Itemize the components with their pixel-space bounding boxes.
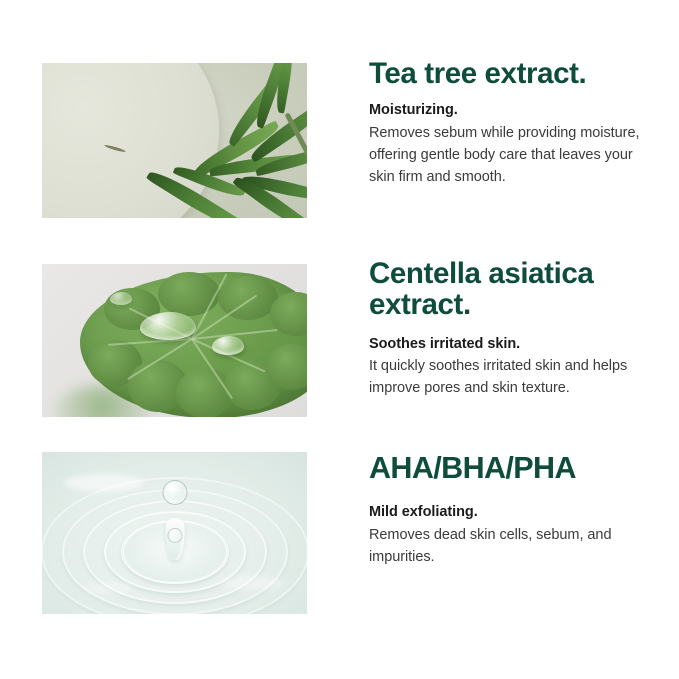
- centella-copy-block: Centella asiatica extract. Soothes irrit…: [369, 258, 661, 399]
- ingredient-benefits-infographic: Tea tree extract. Moisturizing. Removes …: [0, 0, 679, 679]
- page-title-centella: Centella asiatica extract.: [369, 258, 661, 321]
- acids-copy-block: AHA/BHA/PHA Mild exfoliating. Removes de…: [369, 452, 661, 568]
- water-droplet-tiny: [110, 292, 132, 305]
- leaf-lobe: [158, 272, 220, 316]
- falling-water-droplet: [162, 480, 187, 505]
- water-ripple-artwork: [42, 452, 307, 614]
- centella-subhead: Soothes irritated skin.: [369, 334, 661, 356]
- tea-tree-leaves-photo: [42, 63, 307, 218]
- acids-description: Removes dead skin cells, sebum, and impu…: [369, 524, 661, 568]
- tea-tree-description: Removes sebum while providing moisture, …: [369, 122, 661, 188]
- secondary-droplet: [167, 528, 182, 543]
- water-droplet-small: [212, 336, 244, 355]
- tea-tree-subhead: Moisturizing.: [369, 100, 661, 122]
- centella-description: It quickly soothes irritated skin and he…: [369, 355, 661, 399]
- tea-tree-artwork: [42, 63, 307, 218]
- acids-subhead: Mild exfoliating.: [369, 502, 661, 524]
- water-droplet-large: [140, 312, 196, 340]
- surface-highlight: [220, 576, 284, 590]
- page-title-acids: AHA/BHA/PHA: [369, 452, 661, 484]
- water-droplet-ripple-photo: [42, 452, 307, 614]
- surface-highlight: [82, 582, 134, 594]
- centella-artwork: [42, 264, 307, 417]
- surface-highlight: [64, 474, 144, 492]
- tea-tree-copy-block: Tea tree extract. Moisturizing. Removes …: [369, 58, 661, 188]
- page-title-tea-tree: Tea tree extract.: [369, 58, 661, 89]
- centella-leaf-water-drops-photo: [42, 264, 307, 417]
